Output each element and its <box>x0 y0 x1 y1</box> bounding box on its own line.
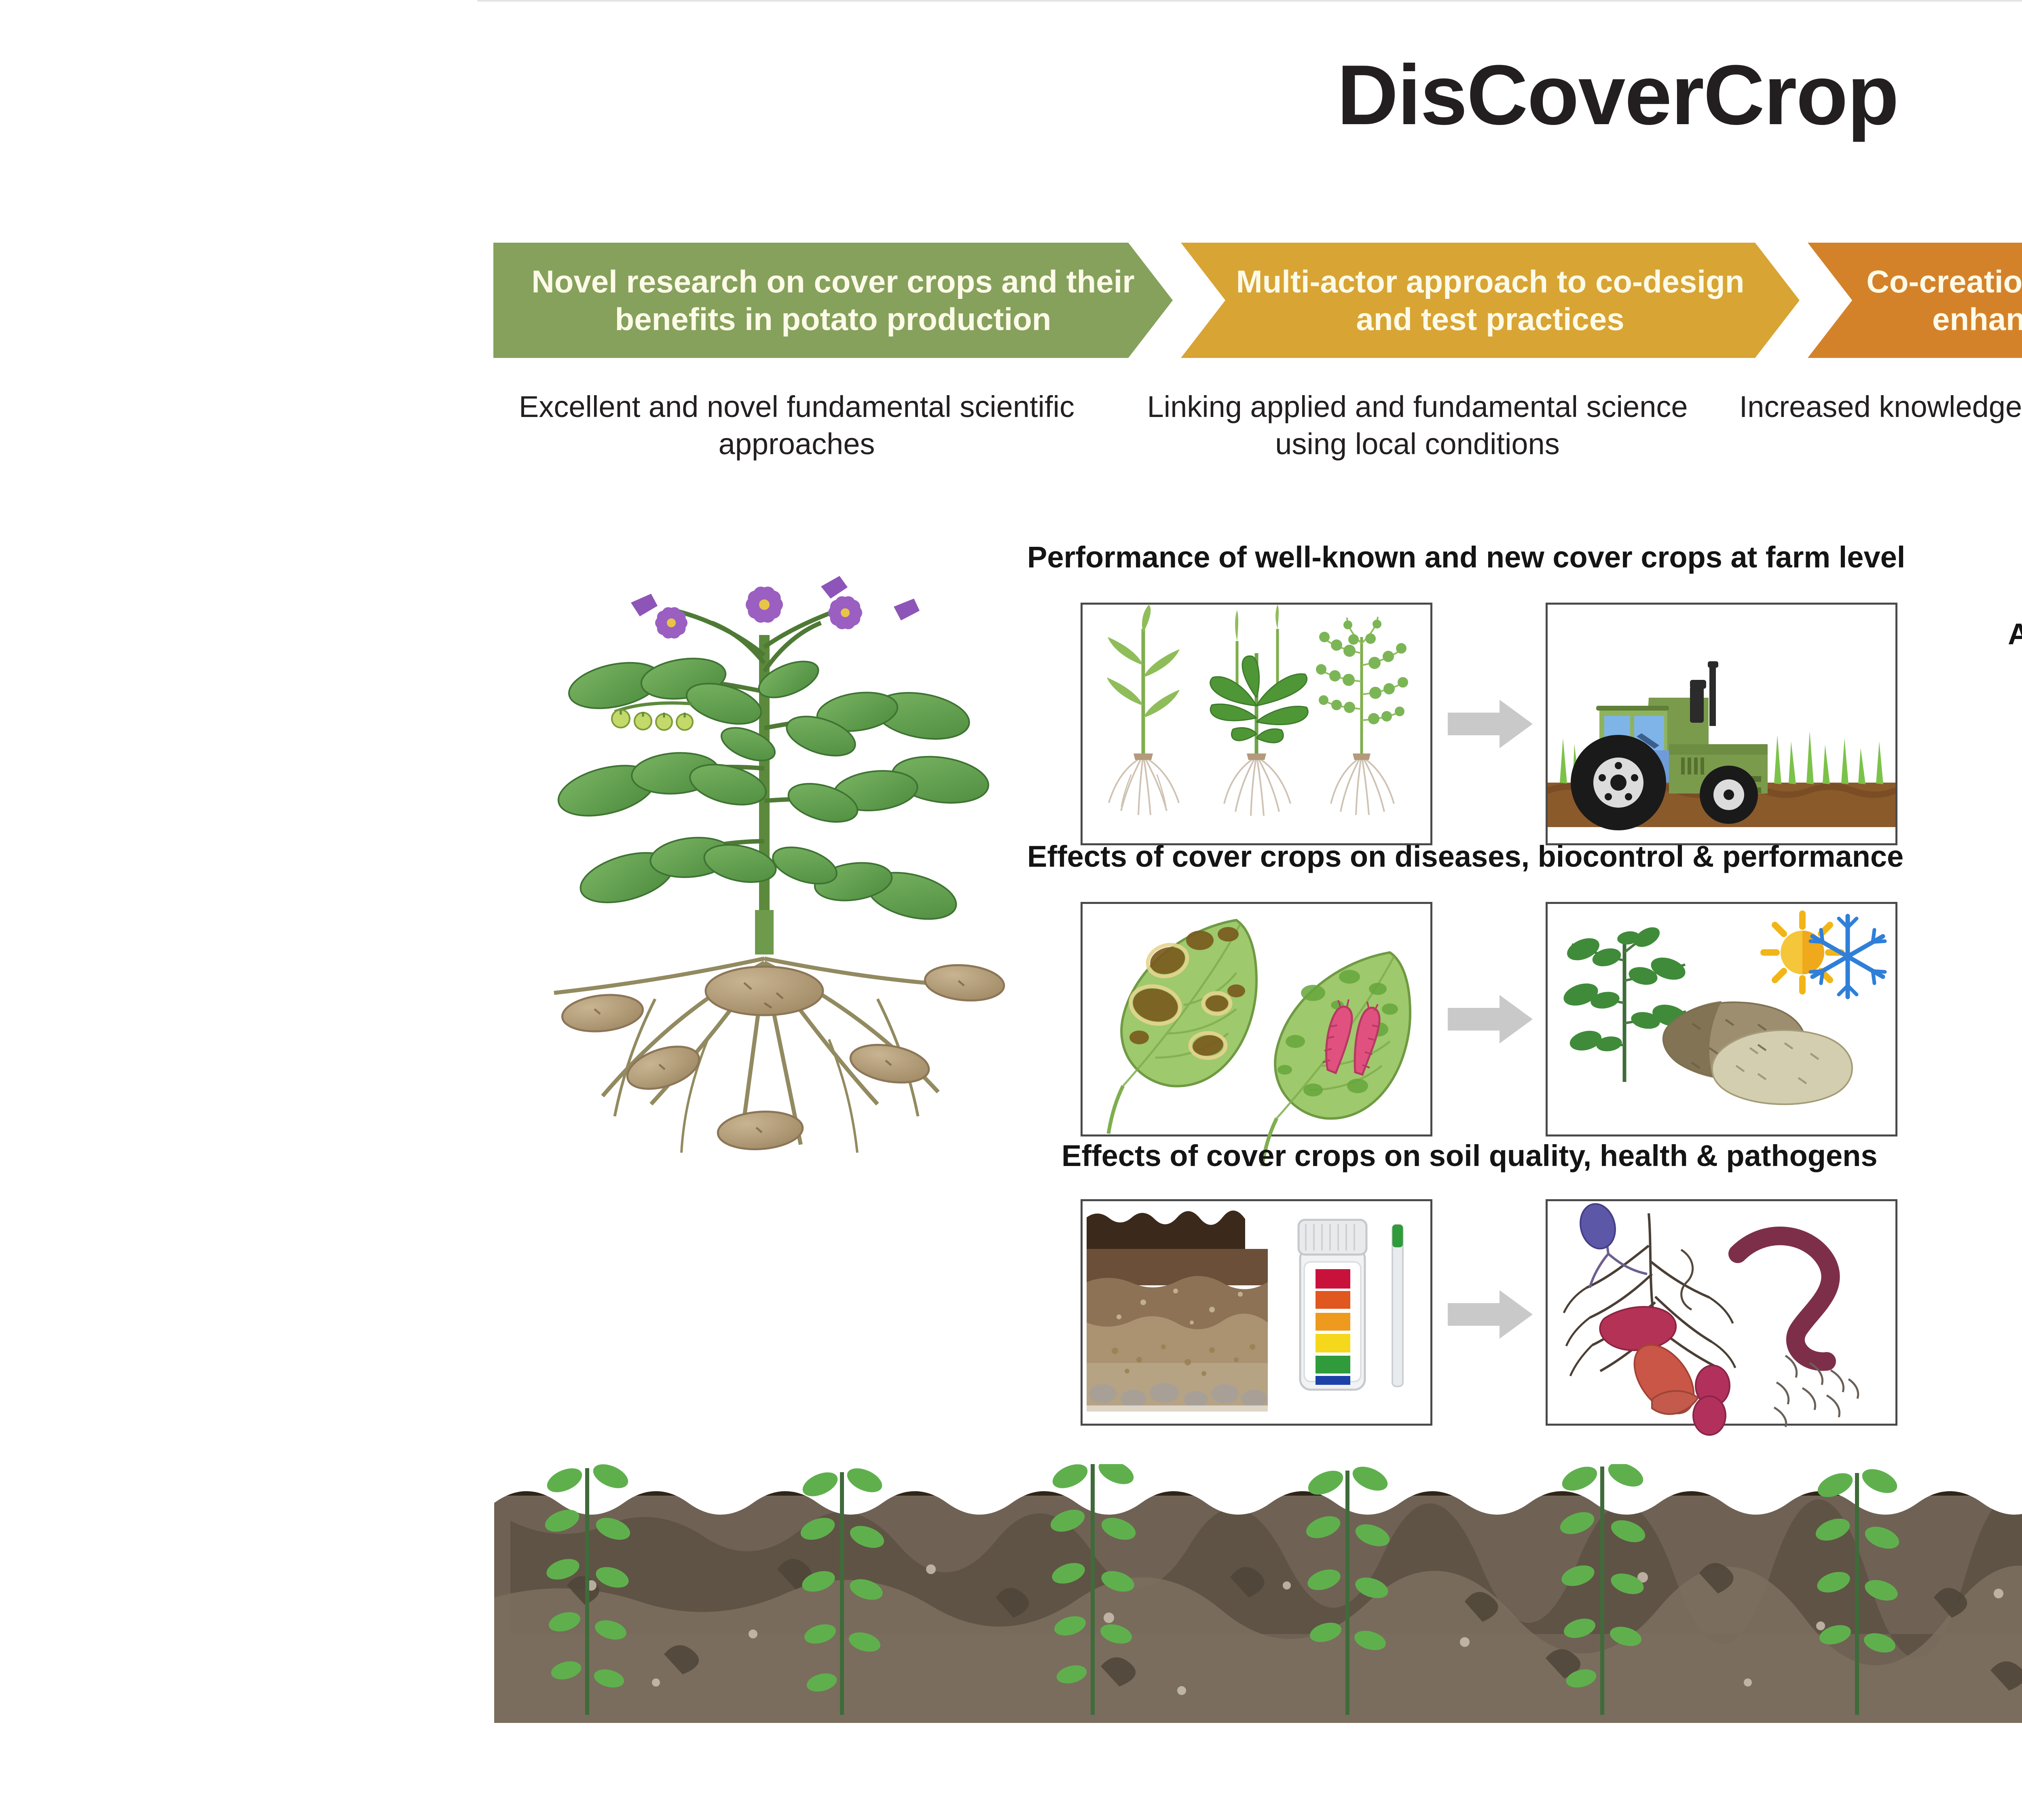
panel-cover-crop-seedlings <box>1081 603 1432 845</box>
pipeline-step-1[interactable]: Novel research on cover crops and their … <box>493 243 1173 358</box>
flow-arrow-1 <box>1448 700 1533 748</box>
soil-microbes-nematode-icon <box>1548 1201 1895 1424</box>
panel-soil-pathogens <box>1546 1199 1897 1426</box>
bacterium-salmon <box>1622 1334 1706 1424</box>
panel-soil-profile <box>1081 1199 1432 1426</box>
pipeline-step-2-label: Multi-actor approach to co-design and te… <box>1181 263 1800 337</box>
flow-arrow-3 <box>1448 1290 1533 1339</box>
pipeline-step-3-label: Co-creation of new practices to use cove… <box>1808 263 2022 337</box>
top-divider <box>477 0 2022 2</box>
bacterium-red-rod <box>1600 1307 1676 1350</box>
ph-test-vial <box>1299 1220 1366 1390</box>
potato-tubers <box>560 962 1005 1152</box>
panel-tractor <box>1546 603 1897 845</box>
potato-tubers-icon <box>1663 1001 1852 1104</box>
potato-flowers <box>631 576 920 641</box>
pest-icon <box>1323 999 1379 1075</box>
potato-plant-illustration <box>481 502 1064 1480</box>
pipeline-step-3[interactable]: Co-creation of new practices to use cove… <box>1808 243 2022 358</box>
cover-crop-seedlings-icon <box>1083 605 1430 843</box>
infographic-canvas: DisCoverCrop Novel research on cover cro… <box>0 0 2022 1820</box>
potato-yield-climate-icon <box>1548 904 1895 1134</box>
panel-diseased-leaves <box>1081 902 1432 1136</box>
page-title: DisCoverCrop <box>0 53 2022 138</box>
pipeline-step-1-label: Novel research on cover crops and their … <box>493 263 1173 337</box>
section-2-heading: Effects of cover crops on diseases, bioc… <box>1027 839 1904 874</box>
nematode-icon <box>1738 1236 1831 1362</box>
field-cross-section <box>494 1464 2022 1723</box>
section-1-heading: Performance of well-known and new cover … <box>1027 540 1905 574</box>
ph-test-strip <box>1392 1225 1403 1386</box>
pipeline-step-1-caption: Excellent and novel fundamental scientif… <box>485 388 1108 463</box>
pipeline-step-2-caption: Linking applied and fundamental science … <box>1124 388 1711 463</box>
pipeline-chevron-band: Novel research on cover crops and their … <box>493 243 2022 358</box>
diseased-leaf-icon <box>1083 904 1430 1134</box>
right-block-heading: Active user involvement in real-life set… <box>2008 617 2022 651</box>
tractor-icon <box>1548 605 1895 843</box>
panel-potato-performance <box>1546 902 1897 1136</box>
section-3-heading: Effects of cover crops on soil quality, … <box>1062 1139 1878 1173</box>
pipeline-step-3-caption: Increased knowledge transfer capacity an… <box>1731 388 2022 463</box>
bacterium-diplococcus <box>1693 1365 1730 1435</box>
bacterium-purple <box>1576 1200 1620 1253</box>
soil-field-illustration <box>494 1464 2022 1723</box>
pipeline-step-2[interactable]: Multi-actor approach to co-design and te… <box>1181 243 1800 358</box>
flow-arrow-2 <box>1448 995 1533 1043</box>
soil-profile-ph-test-icon <box>1083 1201 1430 1424</box>
